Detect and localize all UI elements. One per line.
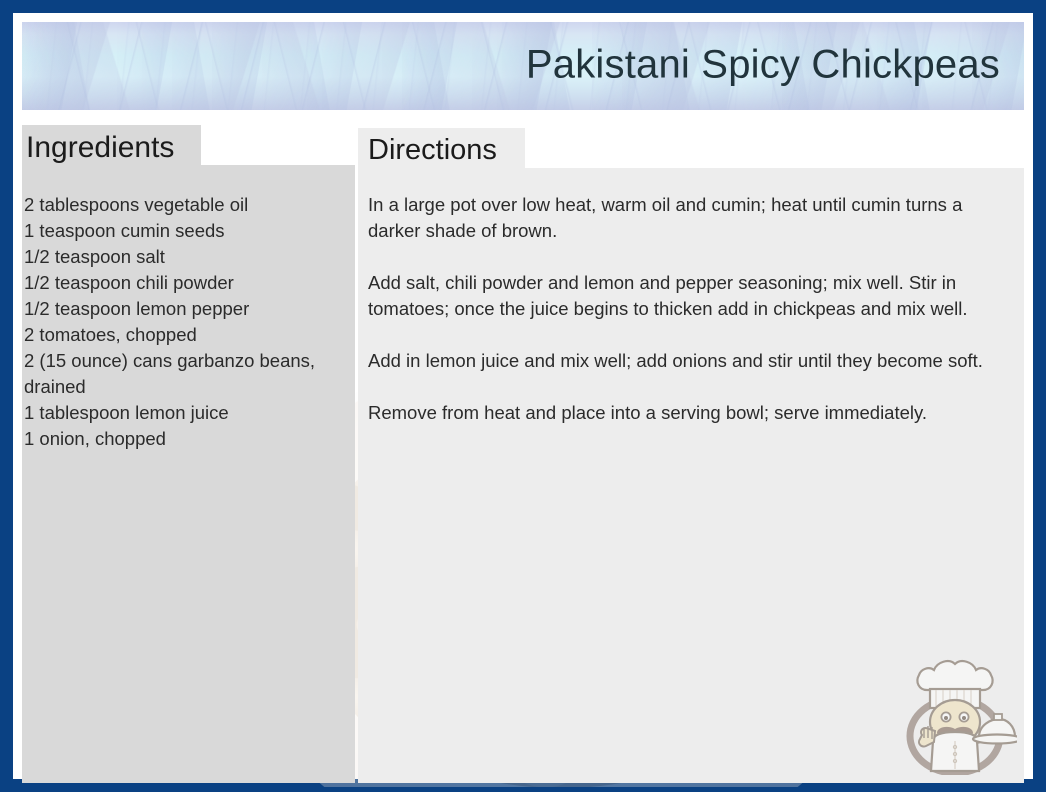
recipe-card-frame: Pakistani Spicy Chickpeas Ingredients 2 … [0,0,1046,792]
ingredients-heading: Ingredients [26,131,174,165]
page-title: Pakistani Spicy Chickpeas [526,43,1000,88]
list-item: 1/2 teaspoon salt [24,244,344,270]
direction-step: In a large pot over low heat, warm oil a… [368,192,1012,244]
list-item: 2 tomatoes, chopped [24,322,344,348]
list-item: 1/2 teaspoon lemon pepper [24,296,344,322]
directions-steps: In a large pot over low heat, warm oil a… [368,192,1012,426]
list-item: 1/2 teaspoon chili powder [24,270,344,296]
list-item: 1 tablespoon lemon juice [24,400,344,426]
header-banner: Pakistani Spicy Chickpeas [22,22,1024,110]
list-item: 1 teaspoon cumin seeds [24,218,344,244]
ingredients-list: 2 tablespoons vegetable oil 1 teaspoon c… [24,192,344,452]
direction-step: Add salt, chili powder and lemon and pep… [368,270,1012,322]
list-item: 2 tablespoons vegetable oil [24,192,344,218]
list-item: 2 (15 ounce) cans garbanzo beans, draine… [24,348,344,400]
list-item: 1 onion, chopped [24,426,344,452]
direction-step: Add in lemon juice and mix well; add oni… [368,348,1012,374]
directions-heading: Directions [368,134,497,167]
direction-step: Remove from heat and place into a servin… [368,400,1012,426]
